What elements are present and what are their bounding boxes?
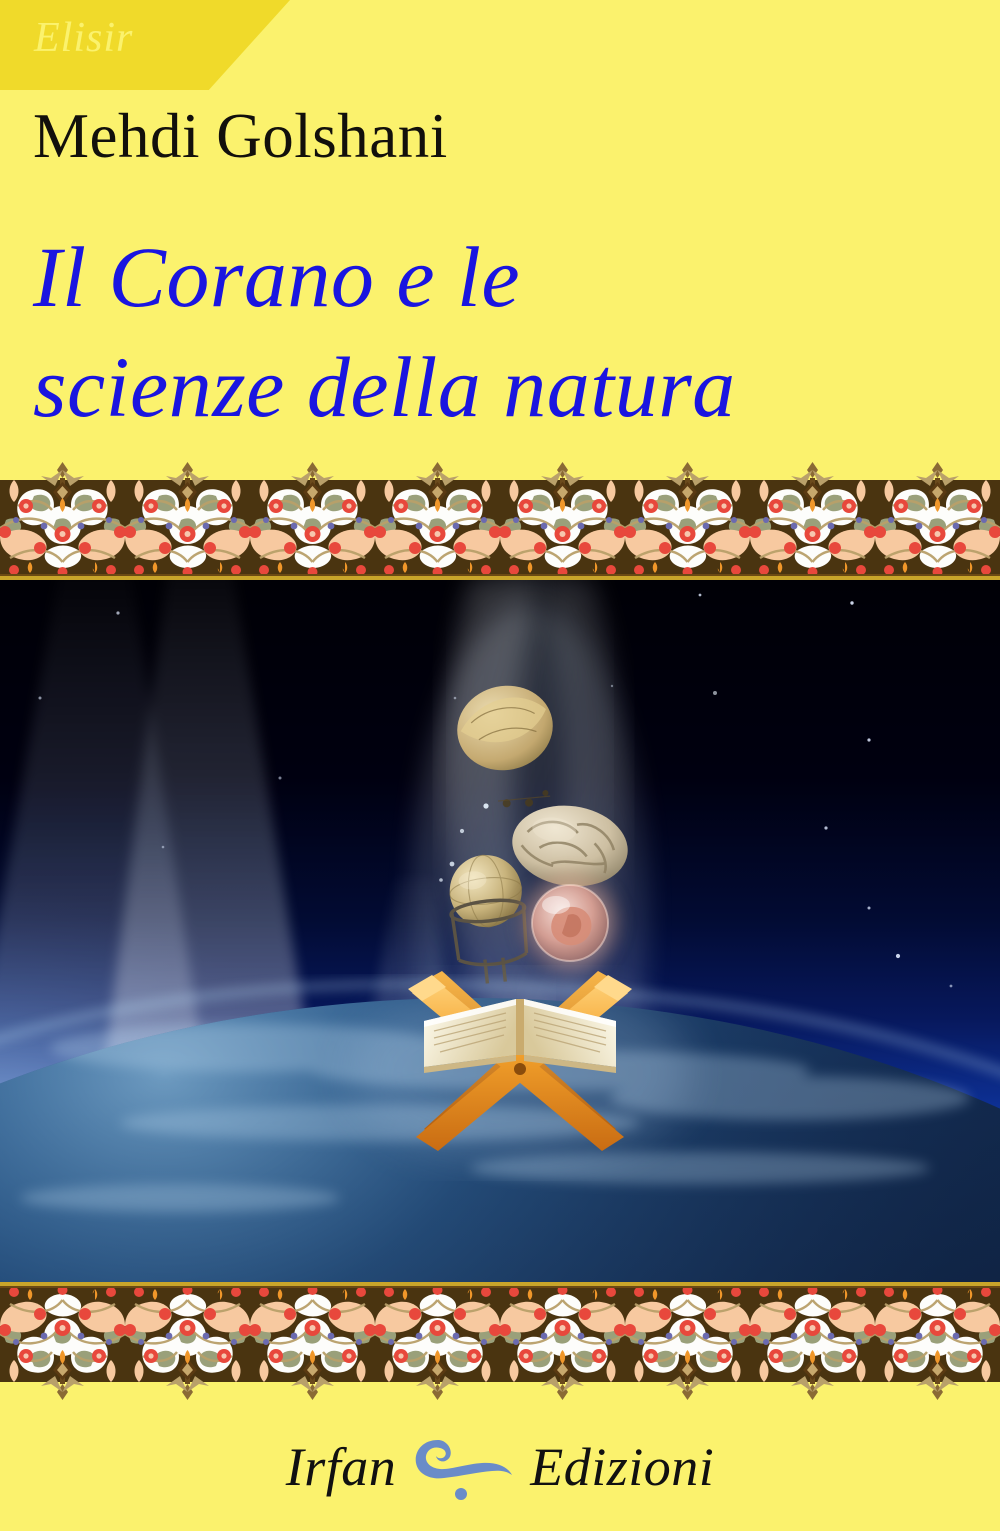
ornament-unit xyxy=(500,462,625,580)
publisher-name-left: Irfan xyxy=(286,1436,397,1498)
ornament-unit xyxy=(250,1282,375,1400)
ornament-unit xyxy=(750,462,875,580)
cover-artwork xyxy=(0,578,1000,1288)
ornament-unit xyxy=(375,1282,500,1400)
ornamental-border-top xyxy=(0,462,1000,580)
series-label: Elisir xyxy=(34,17,133,59)
author-name: Mehdi Golshani xyxy=(33,103,448,169)
publisher-name-right: Edizioni xyxy=(530,1436,714,1498)
ornament-unit xyxy=(625,462,750,580)
publisher-imprint: Irfan Edizioni xyxy=(0,1430,1000,1504)
floating-embryo xyxy=(512,865,628,981)
arabic-calligraphy-mark-icon xyxy=(404,1430,522,1504)
ornament-unit xyxy=(250,462,375,580)
ornament-unit xyxy=(0,462,125,580)
ornament-unit xyxy=(0,1282,125,1400)
title-line-2: scienze della natura xyxy=(33,332,963,442)
ornament-unit xyxy=(500,1282,625,1400)
ornamental-border-bottom xyxy=(0,1282,1000,1400)
ornament-unit xyxy=(875,1282,1000,1400)
book-title: Il Corano e le scienze della natura xyxy=(33,222,963,442)
ornament-unit xyxy=(375,462,500,580)
book-cover: Elisir Mehdi Golshani Il Corano e le sci… xyxy=(0,0,1000,1531)
artwork-illustration xyxy=(0,578,1000,1288)
ornament-unit xyxy=(625,1282,750,1400)
title-line-1: Il Corano e le xyxy=(33,222,963,332)
ornament-unit xyxy=(125,462,250,580)
ornament-unit xyxy=(875,462,1000,580)
ornament-unit xyxy=(750,1282,875,1400)
ornament-unit xyxy=(125,1282,250,1400)
